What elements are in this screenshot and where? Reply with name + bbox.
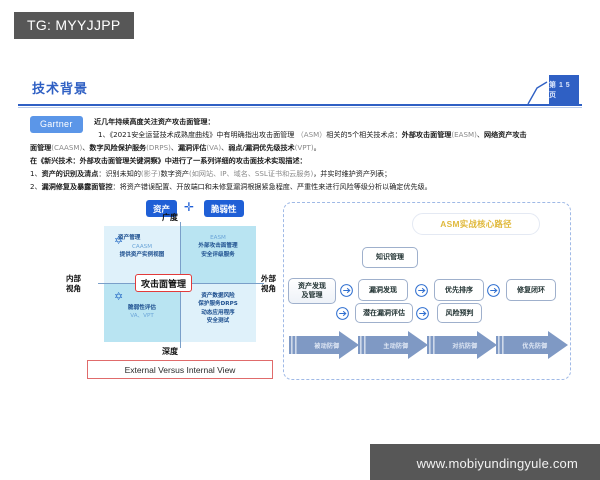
flow-box-prioritize: 优先排序 [434,279,484,301]
quadrant-caption: External Versus Internal View [87,360,273,379]
cell-tr-line3: 安全评级服务 [180,251,256,259]
title-divider [18,104,582,106]
cell-bl-line1: 脆弱性评估 [104,304,180,312]
cell-tl-line3: 提供资产实例视图 [104,251,180,259]
stage-arrow-4-label: 优先防御 [496,331,568,359]
star-icon-va: ✡ [114,292,123,303]
flow-box-asset-discovery-l2: 及管理 [302,291,323,300]
title-divider-secondary [18,107,582,108]
flow-box-vuln-discovery: 漏洞发现 [358,279,408,301]
stage-arrow-2: 主动防御 [358,331,428,359]
body-line-4: 在《新兴技术：外部攻击面管理关键洞察》中进行了一系列详细的攻击面技术实现描述： [30,155,578,168]
body-line-1: 近几年持续高度关注资产攻击面管理： [94,116,600,129]
arrow-right-circle-icon-1 [340,284,353,297]
cell-br-line3: 动态应用程序 [180,309,256,317]
watermark-url: www.mobiyundingyule.com [417,456,578,471]
quadrant-diagram: 资产 ✛ 脆弱性 ✡ ✡ 资产管理 CAASM 提供资产实例视图 EASM [58,200,278,380]
cell-bl-line2: VA、VPT [104,312,180,320]
cell-tl-line2: CAASM [104,243,180,251]
flow-box-remediation: 修复闭环 [506,279,556,301]
axis-label-external-l1: 外部 [261,274,276,284]
tg-handle-banner: TG: MYYJJPP [14,12,134,39]
screenshot-root: TG: MYYJJPP 技术背景 第 1 5 页 Gartner 近几年持续高度… [0,0,600,480]
flow-box-asset-discovery: 资产发现 及管理 [288,278,336,304]
page-number-badge: 第 1 5 页 [549,75,579,105]
stage-arrow-3: 对抗防御 [427,331,497,359]
tag-vulnerability: 脆弱性 [204,200,244,217]
center-chip-asm: 攻击面管理 [135,274,192,292]
page-title: 技术背景 [32,78,88,97]
gartner-label: Gartner [30,116,83,133]
asm-flow-title: ASM实战核心路径 [412,213,540,235]
axis-label-internal-l2: 视角 [66,284,81,294]
stage-arrow-4: 优先防御 [496,331,568,359]
arrow-right-circle-icon-5 [416,307,429,320]
axis-label-depth: 深度 [162,346,178,357]
body-line-2: 1、《2021安全运营技术成熟度曲线》中有明确指出攻击面管理 （ASM）相关的5… [98,129,600,142]
arrow-right-circle-icon-4 [336,307,349,320]
cell-br-line4: 安全测试 [180,317,256,325]
cell-tl-line1: 资产管理 [118,234,166,242]
stage-arrow-2-label: 主动防御 [358,331,428,359]
axis-label-internal-l1: 内部 [66,274,81,284]
stage-arrow-1: 被动防御 [289,331,359,359]
page-badge-tail-icon [527,80,549,105]
axis-label-external-l2: 视角 [261,284,276,294]
cell-br-line2: 保护服务DRPS [180,300,256,308]
flow-box-knowledge-management: 知识管理 [362,247,418,268]
body-line-5: 1、资产的识别及清点：识别未知的(影子)数字资产(如网站、IP、域名、SSL证书… [30,168,578,181]
stage-arrow-3-label: 对抗防御 [427,331,497,359]
flow-box-potential-vuln-assessment: 潜在漏洞评估 [355,303,413,323]
arrow-right-circle-icon-2 [415,284,428,297]
axis-label-external-view: 外部 视角 [261,274,276,293]
axis-label-breadth: 广度 [162,212,178,223]
watermark-left-padding [0,444,370,480]
arrow-right-circle-icon-3 [487,284,500,297]
cell-br-line1: 资产数据风险 [180,292,256,300]
body-line-6: 2、漏洞修复及暴露面管控：将资产错误配置、开放端口和未修复漏洞根据紧急程度、严重… [30,181,578,194]
slide-canvas: 技术背景 第 1 5 页 Gartner 近几年持续高度关注资产攻击面管理： 1… [18,72,582,432]
flow-box-asset-discovery-l1: 资产发现 [298,282,326,291]
plus-icon: ✛ [184,201,194,213]
axis-label-internal-view: 内部 视角 [66,274,81,293]
stage-arrow-1-label: 被动防御 [289,331,359,359]
cell-tr-line2: 外部攻击面管理 [180,242,256,250]
asm-flow-panel: ASM实战核心路径 知识管理 资产发现 及管理 漏洞发现 优先排序 [283,202,571,380]
flow-box-risk-alert: 风险预判 [437,303,482,323]
body-line-3: 面管理(CAASM)、数字风险保护服务(DRPS)、漏洞评估(VA)、弱点/漏洞… [30,142,578,155]
cell-tr-line1: EASM [180,234,256,242]
